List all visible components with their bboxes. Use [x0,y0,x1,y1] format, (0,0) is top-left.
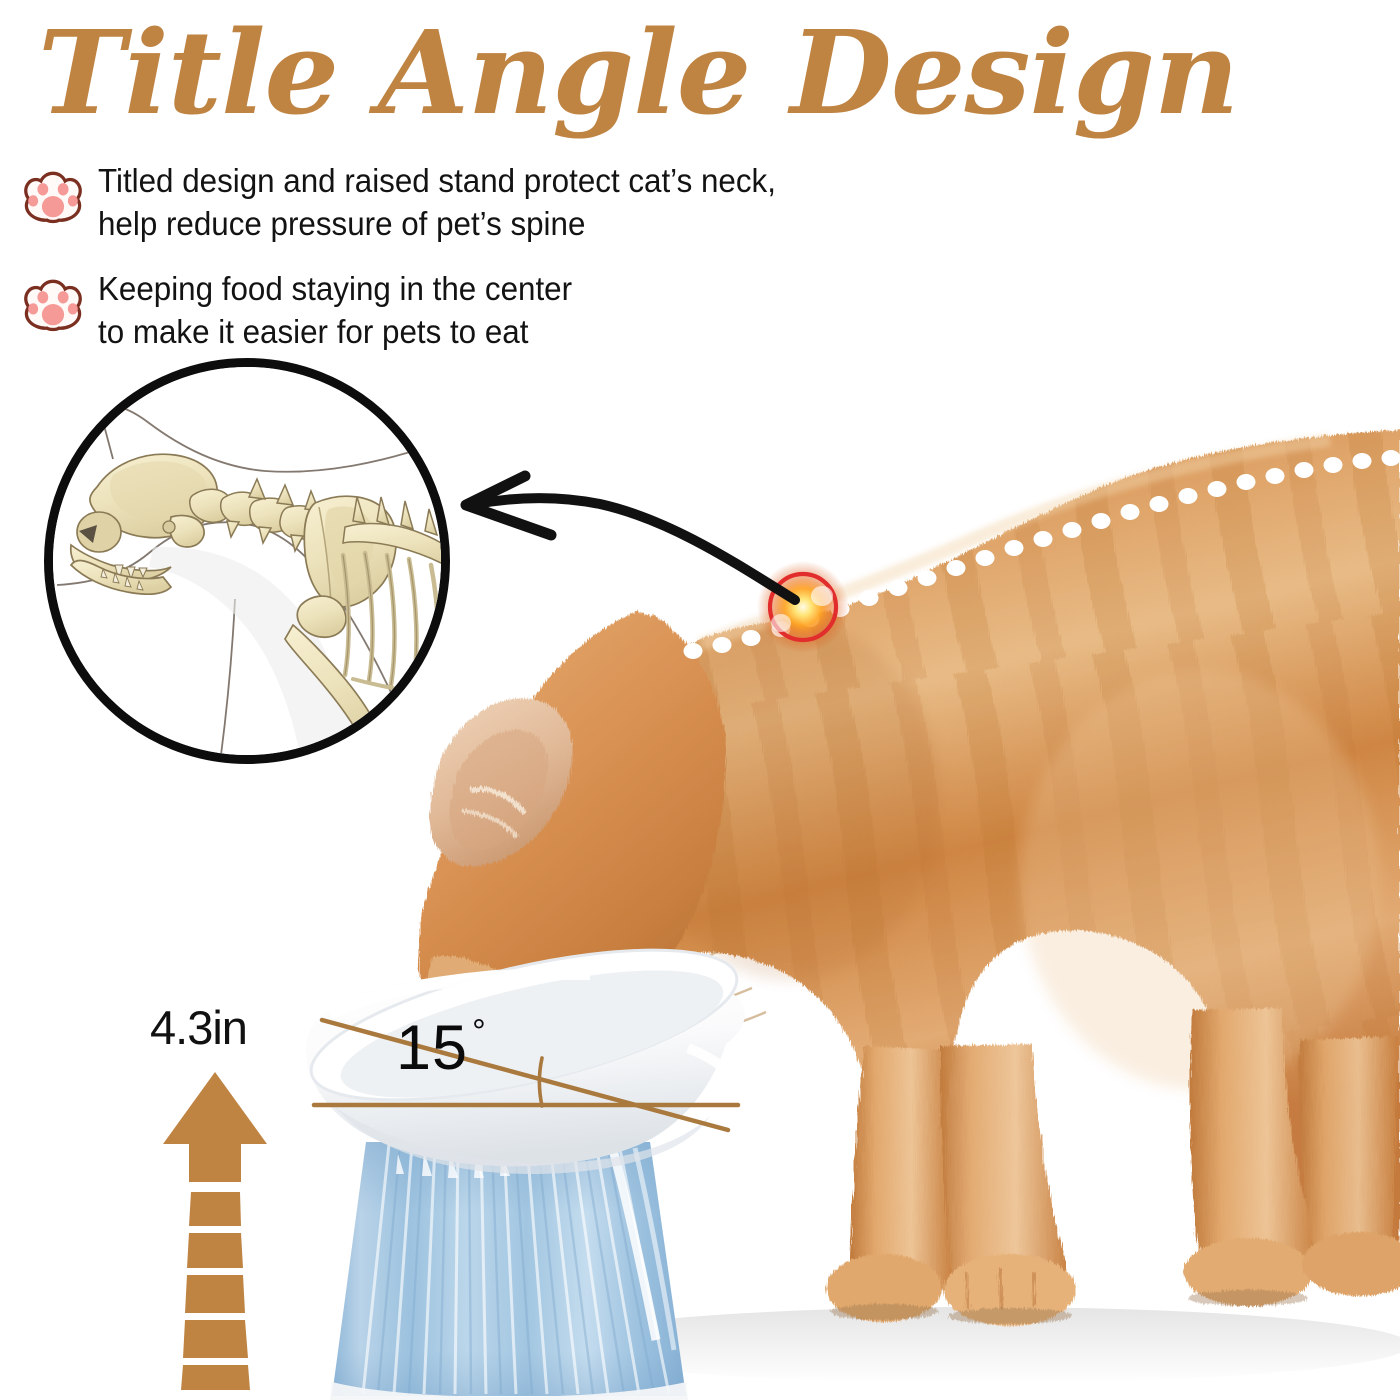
infographic-canvas: Title Angle Design Titled design and rai… [0,0,1400,1400]
height-measure-arrow [155,1070,275,1390]
cat-hind-legs [1184,1008,1400,1306]
page-title: Title Angle Design [38,14,1238,135]
arrow-segment [187,1233,243,1268]
spine-dotted-line [684,450,1400,659]
haunch-highlight [1020,670,1380,1090]
tilt-angle-label: 15° [396,1012,483,1084]
arrow-head [163,1072,267,1182]
arrow-segment [183,1320,248,1358]
back-contour-highlight [700,440,1330,644]
cat-skeleton-closeup [44,358,450,764]
curved-pointer-arrow [466,476,795,600]
cat-paw-icon [22,168,84,226]
arrow-segment [181,1365,250,1390]
bowl-vessel [299,930,750,1174]
bowl-pedestal-base [330,1142,688,1400]
feature-bullet-1: Titled design and raised stand protect c… [22,160,812,246]
cat-front-paws [826,1254,1076,1326]
neck-pressure-hotspot [757,561,849,653]
cat-front-legs [850,1044,1067,1302]
height-measure-label: 4.3in [150,1000,247,1055]
arrow-segment [189,1192,241,1226]
cat-ear [429,698,572,866]
cat-paw-icon [22,276,84,334]
degree-symbol: ° [472,1013,487,1051]
tilt-angle-value: 15 [396,1013,468,1083]
feature-bullet-2: Keeping food staying in the center to ma… [22,268,597,354]
feature-bullet-2-text: Keeping food staying in the center to ma… [98,268,572,354]
arrow-segment [185,1275,245,1313]
tilted-cat-bowl [290,930,760,1400]
feature-bullet-1-text: Titled design and raised stand protect c… [98,160,776,246]
shoulder-shade [640,620,940,980]
fur-sliver [437,604,450,697]
